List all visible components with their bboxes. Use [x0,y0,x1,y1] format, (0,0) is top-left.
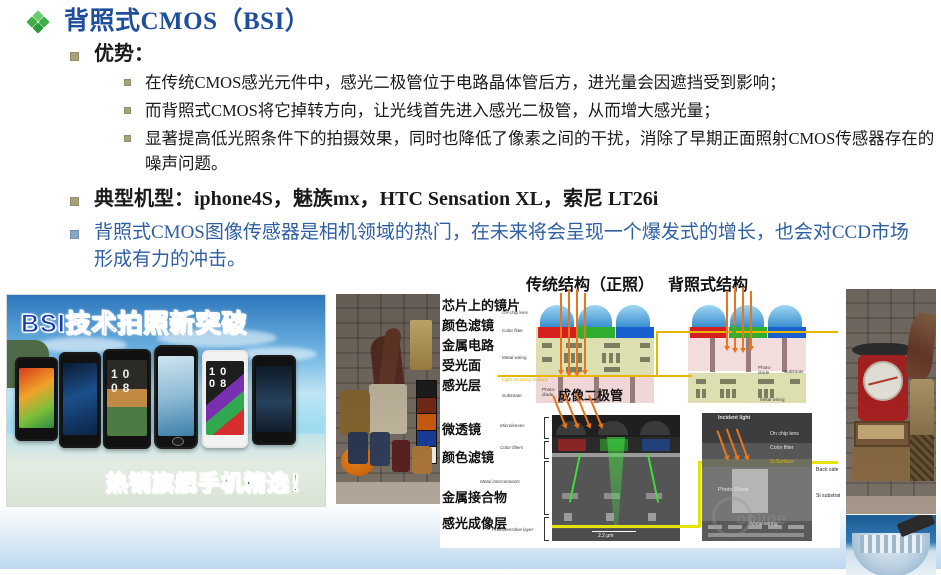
square-bullet-icon [124,107,131,114]
wooden-box [852,447,910,481]
market-outlook-text: 背照式CMOS图像传感器是相机领域的热门，在未来将会呈现一个爆发式的增长，也会对… [94,219,924,274]
diagram-en-photo-diode: Photo Diode [718,487,749,493]
on-chip-lens [616,305,650,327]
ad-phone [15,357,58,441]
crate-label [858,425,904,439]
still-life-straw-broom [410,320,432,370]
diagram-label-light-surface-cn: 受光面 [442,355,481,374]
diagram-en-light-surface: Light receiving surface [502,377,548,382]
color-filter-red [538,327,576,338]
list-item: 在传统CMOS感光元件中，感光二极管位于电路晶体管后方，进光量会因遮挡受到影响； [0,67,941,95]
ad-phone [154,345,198,449]
ad-phone [252,355,296,445]
list-item-text: 在传统CMOS感光元件中，感光二极管位于电路晶体管后方，进光量会因遮挡受到影响； [145,70,786,95]
square-bullet-icon [124,79,131,86]
diagram-en-incident-light: Incident light [718,415,750,421]
diagram-label-colorfilter-cn: 颜色滤镜 [442,447,494,466]
page-title: 背照式CMOS（BSI） [0,0,941,37]
diagram-en-si-surface: Si Surface [770,459,794,465]
square-bullet-icon [70,230,79,239]
still-life-table-surface [336,482,440,504]
diagram-en-photodiode-bsi: Photo-diode [758,365,778,375]
kitchen-scale-still-life-photo [846,289,936,514]
list-item-text: 显著提高低光照条件下的拍摄效果，同时也降低了像素之间的干扰，消除了早期正面照射C… [145,126,935,176]
diagram-en-photosensitive-layer: Photosensitive layer [492,527,533,532]
woven-vase [910,379,934,437]
bsi-phone-advertisement-image: BSI技术拍照新突破 10 08 10 08 热销旗舰手机精选！ [6,294,326,507]
list-item: 显著提高低光照条件下的拍摄效果，同时也降低了像素之间的干扰，消除了早期正面照射C… [0,123,941,176]
ad-phone-screen [63,363,97,435]
textured-vase [910,435,934,481]
diagram-label-metal-interconnect-cn: 金属接合物 [442,487,507,506]
diagram-en-metal-wiring: Metal wiring [502,355,527,360]
still-life-jam-jar [348,432,368,464]
diagram-en-microlenses: Microlenses [500,423,525,428]
diagram-en-color-filter: Color filter [502,328,523,333]
ad-phone: 10 08 [202,350,248,448]
diagram-en-onchip-lens-bsi: On chip lens [770,431,799,437]
page-title-text: 背照式CMOS（BSI） [64,6,310,37]
diagram-heading-bsi: 背照式结构 [668,271,748,295]
still-life-glass-jar [340,390,370,436]
diagram-en-substrate: Substrate [502,393,522,398]
ad-phone-clock: 10 08 [209,366,246,390]
square-bullet-icon [70,197,79,206]
diagram-en-metal-interconnects: Metal interconnects [480,479,520,484]
diagram-label-photosensitive-cn: 感光层 [442,375,481,394]
list-item-text: 而背照式CMOS将它掉转方向，让光线首先进入感光二极管，从而增大感光量； [145,98,720,123]
ad-phone [59,352,101,448]
ad-subline-text: 热销旗舰手机精选！ [106,466,313,498]
diagram-en-si-substrate: Si substrate [816,493,840,499]
market-outlook-line: 背照式CMOS图像传感器是相机领域的热门，在未来将会呈现一个爆发式的增长，也会对… [0,212,941,274]
still-life-jam-jar [370,432,390,466]
list-item: 而背照式CMOS将它掉转方向，让光线首先进入感光二极管，从而增大感光量； [0,95,941,123]
bsi-metal-layer [688,373,806,403]
blue-bowl-photo [846,515,936,575]
watermark-ring-icon [712,497,752,537]
slide-text-content: 背照式CMOS（BSI） 优势： 在传统CMOS感光元件中，感光二极管位于电路晶… [0,0,941,274]
slide-image-row: BSI技术拍照新突破 10 08 10 08 热销旗舰手机精选！ [0,289,941,549]
diagram-en-photodiode: Photo-diode [542,387,558,397]
section-heading-text: 优势： [94,41,154,67]
ad-phone-screen [158,356,194,436]
sem-scale-label: 2.2 μm [598,533,613,539]
diagram-en-back-side: Back side [816,467,839,473]
scale-photo-table [846,496,936,514]
square-bullet-icon [124,135,131,142]
ad-phone-home-button [172,437,184,446]
bsi-sensor-top [688,313,806,403]
ad-phone-screen [256,366,292,432]
on-chip-lens [768,305,802,327]
square-bullet-icon [70,52,79,61]
typical-models-text: 典型机型：iphone4S，魅族mx，HTC Sensation XL，索尼 L… [94,186,658,212]
diagram-label-metal-wiring-cn: 金属电路 [442,335,494,354]
low-light-still-life-photo [336,294,440,504]
diagram-en-on-chip-lens: On-chip lens [502,310,528,315]
diagram-label-microlenses-cn: 微透镜 [442,419,481,438]
diagram-label-color-filter-cn: 颜色滤镜 [442,315,494,334]
bowl-pattern [860,535,922,553]
sem-photo-fsi: 2.2 μm [552,415,680,541]
still-life-jam-jar [392,440,410,472]
diagram-en-metal-wiring-bsi: Metal wiring [760,397,785,402]
still-life-wooden-object [412,446,432,474]
diagram-en-color-filter-bsi: Color filter [770,445,794,451]
section-heading-advantages: 优势： [0,37,941,67]
ad-phone-clock: 10 08 [111,367,149,395]
typical-models-line: 典型机型：iphone4S，魅族mx，HTC Sensation XL，索尼 L… [0,177,941,212]
color-filter-blue [616,327,654,338]
diagram-en-color-filters: Color filters [500,445,523,450]
on-chip-lens [692,305,726,327]
ad-phone-screen [19,368,54,428]
diagram-en-substrate-bsi: Substrate [784,369,804,374]
bsi-vs-fsi-structure-diagram: 传统结构（正照） 背照式结构 芯片上的镜片 颜色滤镜 金属电路 受光面 感光层 [440,265,840,548]
ad-headline-text: BSI技术拍照新突破 [21,304,248,340]
ad-phone: 10 08 [103,349,151,449]
still-life-crock [369,384,407,434]
diagram-heading-fsi: 传统结构（正照） [526,271,654,295]
green-diamond-cluster-icon [28,12,48,32]
